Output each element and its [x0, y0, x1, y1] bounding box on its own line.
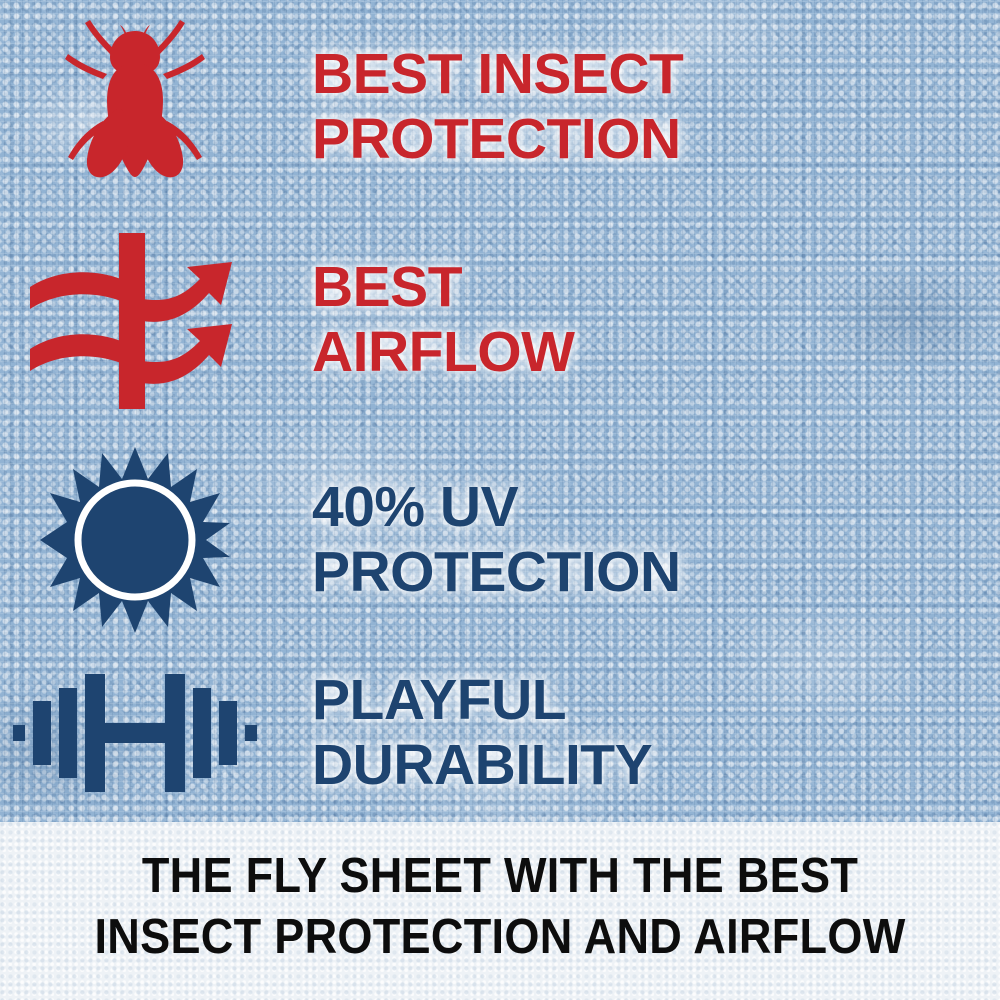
caption-line-1: THE FLY SHEET WITH THE BEST	[40, 846, 960, 907]
feature-label-cell: BEST AIRFLOW	[270, 255, 1000, 385]
sun-uv-icon	[40, 445, 230, 635]
caption-band: THE FLY SHEET WITH THE BEST INSECT PROTE…	[0, 822, 1000, 1000]
feature-row-insect-protection: BEST INSECT PROTECTION	[0, 12, 1000, 202]
feature-label-cell: 40% UV PROTECTION	[270, 475, 1000, 605]
feature-label-airflow: BEST AIRFLOW	[312, 255, 1000, 385]
feature-label-uv-protection: 40% UV PROTECTION	[312, 475, 1000, 605]
dumbbell-icon-cell	[0, 668, 270, 798]
dumbbell-icon	[11, 668, 259, 798]
caption-line-2: INSECT PROTECTION AND AIRFLOW	[40, 907, 960, 968]
feature-label-cell: PLAYFUL DURABILITY	[270, 668, 1000, 798]
product-feature-poster: BEST INSECT PROTECTION	[0, 0, 1000, 1000]
feature-label-durability: PLAYFUL DURABILITY	[312, 668, 1000, 798]
feature-row-airflow: BEST AIRFLOW	[0, 222, 1000, 417]
sun-icon-cell	[0, 445, 270, 635]
airflow-icon-cell	[0, 225, 270, 415]
feature-row-uv-protection: 40% UV PROTECTION	[0, 440, 1000, 640]
fly-icon-cell	[0, 17, 270, 197]
feature-row-durability: PLAYFUL DURABILITY	[0, 648, 1000, 818]
fly-icon	[55, 17, 215, 197]
feature-label-insect-protection: BEST INSECT PROTECTION	[312, 42, 1000, 172]
feature-label-cell: BEST INSECT PROTECTION	[270, 42, 1000, 172]
airflow-arrows-icon	[24, 225, 246, 415]
